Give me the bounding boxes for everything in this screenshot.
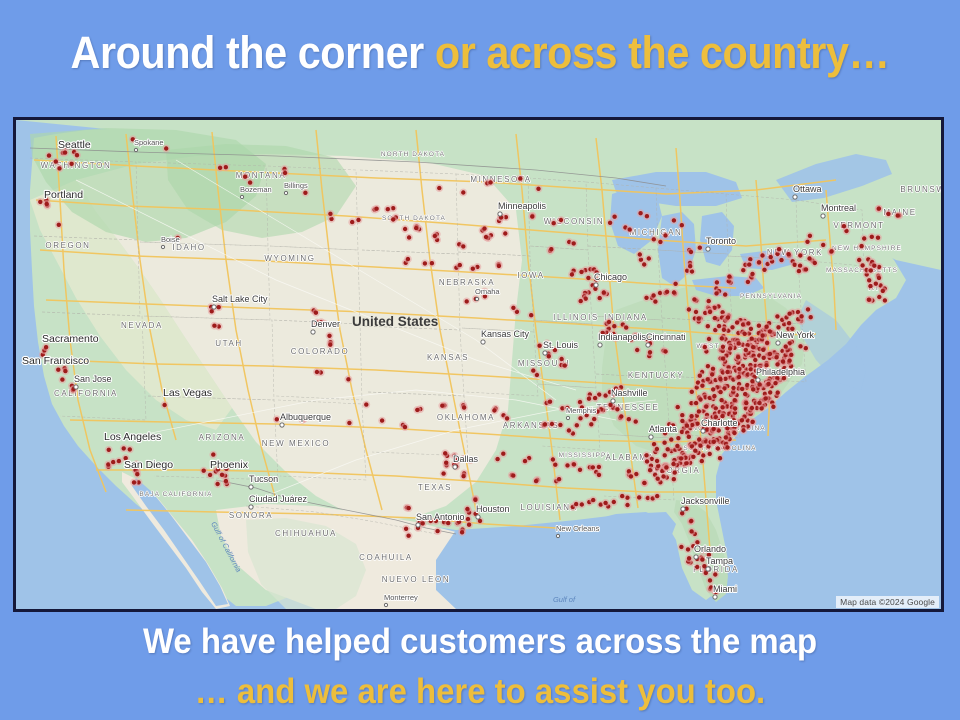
customer-marker[interactable] bbox=[721, 356, 725, 360]
customer-marker[interactable] bbox=[460, 530, 464, 534]
customer-marker[interactable] bbox=[735, 320, 739, 324]
customer-marker[interactable] bbox=[314, 311, 318, 315]
customer-marker[interactable] bbox=[655, 447, 659, 451]
customer-marker[interactable] bbox=[743, 392, 747, 396]
customer-marker[interactable] bbox=[612, 324, 616, 328]
customer-marker[interactable] bbox=[743, 332, 747, 336]
customer-marker[interactable] bbox=[391, 217, 395, 221]
customer-marker[interactable] bbox=[876, 236, 880, 240]
customer-marker[interactable] bbox=[740, 387, 744, 391]
customer-marker[interactable] bbox=[877, 276, 881, 280]
customer-marker[interactable] bbox=[870, 235, 874, 239]
customer-marker[interactable] bbox=[534, 479, 538, 483]
customer-marker[interactable] bbox=[727, 274, 731, 278]
customer-marker[interactable] bbox=[708, 452, 712, 456]
customer-marker[interactable] bbox=[859, 244, 863, 248]
customer-marker[interactable] bbox=[122, 446, 126, 450]
customer-marker[interactable] bbox=[757, 401, 761, 405]
customer-marker[interactable] bbox=[132, 480, 136, 484]
customer-marker[interactable] bbox=[672, 477, 676, 481]
customer-marker[interactable] bbox=[706, 324, 710, 328]
customer-marker[interactable] bbox=[707, 299, 711, 303]
customer-marker[interactable] bbox=[663, 453, 667, 457]
customer-marker[interactable] bbox=[813, 261, 817, 265]
customer-marker[interactable] bbox=[530, 214, 534, 218]
customer-marker[interactable] bbox=[619, 414, 623, 418]
customer-marker[interactable] bbox=[750, 379, 754, 383]
customer-marker[interactable] bbox=[444, 461, 448, 465]
customer-marker[interactable] bbox=[718, 377, 722, 381]
customer-marker[interactable] bbox=[829, 249, 833, 253]
customer-marker[interactable] bbox=[471, 267, 475, 271]
customer-marker[interactable] bbox=[567, 428, 571, 432]
customer-marker[interactable] bbox=[328, 212, 332, 216]
customer-marker[interactable] bbox=[433, 234, 437, 238]
customer-marker[interactable] bbox=[663, 233, 667, 237]
customer-marker[interactable] bbox=[563, 363, 567, 367]
customer-marker[interactable] bbox=[799, 314, 803, 318]
customer-marker[interactable] bbox=[658, 240, 662, 244]
customer-marker[interactable] bbox=[750, 272, 754, 276]
customer-marker[interactable] bbox=[386, 207, 390, 211]
customer-marker[interactable] bbox=[572, 241, 576, 245]
customer-marker[interactable] bbox=[597, 465, 601, 469]
customer-marker[interactable] bbox=[327, 334, 331, 338]
customer-marker[interactable] bbox=[672, 290, 676, 294]
customer-marker[interactable] bbox=[620, 494, 624, 498]
customer-marker[interactable] bbox=[862, 236, 866, 240]
customer-marker[interactable] bbox=[684, 461, 688, 465]
customer-marker[interactable] bbox=[706, 377, 710, 381]
customer-marker[interactable] bbox=[771, 405, 775, 409]
customer-marker[interactable] bbox=[762, 268, 766, 272]
customer-marker[interactable] bbox=[740, 418, 744, 422]
customer-marker[interactable] bbox=[751, 345, 755, 349]
customer-marker[interactable] bbox=[57, 166, 61, 170]
customer-marker[interactable] bbox=[570, 272, 574, 276]
customer-marker[interactable] bbox=[868, 284, 872, 288]
customer-marker[interactable] bbox=[693, 449, 697, 453]
customer-marker[interactable] bbox=[461, 244, 465, 248]
customer-marker[interactable] bbox=[661, 474, 665, 478]
customer-marker[interactable] bbox=[443, 451, 447, 455]
customer-marker[interactable] bbox=[663, 349, 667, 353]
customer-marker[interactable] bbox=[760, 333, 764, 337]
customer-marker[interactable] bbox=[749, 327, 753, 331]
customer-marker[interactable] bbox=[857, 258, 861, 262]
customer-marker[interactable] bbox=[746, 280, 750, 284]
customer-marker[interactable] bbox=[700, 557, 704, 561]
customer-marker[interactable] bbox=[38, 200, 42, 204]
customer-marker[interactable] bbox=[694, 401, 698, 405]
customer-marker[interactable] bbox=[406, 257, 410, 261]
customer-marker[interactable] bbox=[697, 409, 701, 413]
customer-marker[interactable] bbox=[634, 419, 638, 423]
customer-marker[interactable] bbox=[529, 313, 533, 317]
customer-marker[interactable] bbox=[275, 417, 279, 421]
customer-marker[interactable] bbox=[793, 263, 797, 267]
customer-marker[interactable] bbox=[704, 404, 708, 408]
customer-marker[interactable] bbox=[572, 462, 576, 466]
customer-marker[interactable] bbox=[731, 386, 735, 390]
customer-location-map[interactable]: United States WASHINGTONOREGONIDAHOMONTA… bbox=[13, 117, 944, 612]
customer-marker[interactable] bbox=[315, 370, 319, 374]
customer-marker[interactable] bbox=[715, 280, 719, 284]
customer-marker[interactable] bbox=[787, 358, 791, 362]
customer-marker[interactable] bbox=[407, 235, 411, 239]
customer-marker[interactable] bbox=[543, 422, 547, 426]
customer-marker[interactable] bbox=[807, 256, 811, 260]
customer-marker[interactable] bbox=[769, 255, 773, 259]
customer-marker[interactable] bbox=[473, 498, 477, 502]
customer-marker[interactable] bbox=[720, 336, 724, 340]
customer-marker[interactable] bbox=[558, 423, 562, 427]
customer-marker[interactable] bbox=[642, 481, 646, 485]
customer-marker[interactable] bbox=[597, 473, 601, 477]
customer-marker[interactable] bbox=[759, 406, 763, 410]
customer-marker[interactable] bbox=[635, 348, 639, 352]
customer-marker[interactable] bbox=[725, 370, 729, 374]
customer-marker[interactable] bbox=[821, 243, 825, 247]
customer-marker[interactable] bbox=[202, 469, 206, 473]
customer-marker[interactable] bbox=[686, 547, 690, 551]
customer-marker[interactable] bbox=[751, 387, 755, 391]
customer-marker[interactable] bbox=[687, 556, 691, 560]
customer-marker[interactable] bbox=[587, 397, 591, 401]
customer-marker[interactable] bbox=[518, 176, 522, 180]
customer-marker[interactable] bbox=[107, 448, 111, 452]
customer-marker[interactable] bbox=[726, 315, 730, 319]
customer-marker[interactable] bbox=[645, 214, 649, 218]
customer-marker[interactable] bbox=[531, 368, 535, 372]
customer-marker[interactable] bbox=[346, 377, 350, 381]
customer-marker[interactable] bbox=[607, 320, 611, 324]
customer-marker[interactable] bbox=[701, 453, 705, 457]
customer-marker[interactable] bbox=[669, 437, 673, 441]
customer-marker[interactable] bbox=[697, 316, 701, 320]
customer-marker[interactable] bbox=[733, 406, 737, 410]
customer-marker[interactable] bbox=[842, 224, 846, 228]
customer-marker[interactable] bbox=[750, 406, 754, 410]
customer-marker[interactable] bbox=[598, 296, 602, 300]
customer-marker[interactable] bbox=[673, 282, 677, 286]
customer-marker[interactable] bbox=[624, 325, 628, 329]
customer-marker[interactable] bbox=[700, 459, 704, 463]
customer-marker[interactable] bbox=[787, 312, 791, 316]
customer-marker[interactable] bbox=[612, 500, 616, 504]
customer-marker[interactable] bbox=[579, 299, 583, 303]
customer-marker[interactable] bbox=[698, 444, 702, 448]
customer-marker[interactable] bbox=[224, 479, 228, 483]
customer-marker[interactable] bbox=[808, 234, 812, 238]
customer-marker[interactable] bbox=[44, 345, 48, 349]
customer-marker[interactable] bbox=[718, 456, 722, 460]
customer-marker[interactable] bbox=[725, 445, 729, 449]
customer-marker[interactable] bbox=[591, 498, 595, 502]
customer-marker[interactable] bbox=[651, 293, 655, 297]
customer-marker[interactable] bbox=[549, 247, 553, 251]
customer-marker[interactable] bbox=[689, 529, 693, 533]
customer-marker[interactable] bbox=[557, 477, 561, 481]
customer-marker[interactable] bbox=[75, 153, 79, 157]
customer-marker[interactable] bbox=[784, 344, 788, 348]
customer-marker[interactable] bbox=[217, 305, 221, 309]
customer-marker[interactable] bbox=[689, 519, 693, 523]
customer-marker[interactable] bbox=[703, 345, 707, 349]
customer-marker[interactable] bbox=[536, 187, 540, 191]
customer-marker[interactable] bbox=[374, 207, 378, 211]
customer-marker[interactable] bbox=[593, 396, 597, 400]
customer-marker[interactable] bbox=[757, 260, 761, 264]
customer-marker[interactable] bbox=[707, 337, 711, 341]
customer-marker[interactable] bbox=[645, 459, 649, 463]
customer-marker[interactable] bbox=[559, 357, 563, 361]
customer-marker[interactable] bbox=[732, 431, 736, 435]
customer-marker[interactable] bbox=[757, 324, 761, 328]
customer-marker[interactable] bbox=[675, 444, 679, 448]
customer-marker[interactable] bbox=[347, 421, 351, 425]
customer-marker[interactable] bbox=[497, 264, 501, 268]
customer-marker[interactable] bbox=[488, 180, 492, 184]
customer-marker[interactable] bbox=[721, 345, 725, 349]
customer-marker[interactable] bbox=[716, 446, 720, 450]
customer-marker[interactable] bbox=[484, 235, 488, 239]
customer-marker[interactable] bbox=[224, 165, 228, 169]
customer-marker[interactable] bbox=[465, 507, 469, 511]
customer-marker[interactable] bbox=[773, 381, 777, 385]
customer-marker[interactable] bbox=[602, 290, 606, 294]
customer-marker[interactable] bbox=[860, 263, 864, 267]
customer-marker[interactable] bbox=[786, 252, 790, 256]
customer-marker[interactable] bbox=[700, 384, 704, 388]
customer-marker[interactable] bbox=[580, 502, 584, 506]
customer-marker[interactable] bbox=[656, 477, 660, 481]
customer-marker[interactable] bbox=[691, 455, 695, 459]
customer-marker[interactable] bbox=[482, 226, 486, 230]
customer-marker[interactable] bbox=[776, 390, 780, 394]
customer-marker[interactable] bbox=[746, 321, 750, 325]
customer-marker[interactable] bbox=[877, 206, 881, 210]
customer-marker[interactable] bbox=[764, 325, 768, 329]
customer-marker[interactable] bbox=[503, 231, 507, 235]
customer-marker[interactable] bbox=[461, 190, 465, 194]
customer-marker[interactable] bbox=[552, 221, 556, 225]
customer-marker[interactable] bbox=[768, 352, 772, 356]
customer-marker[interactable] bbox=[761, 348, 765, 352]
customer-marker[interactable] bbox=[775, 314, 779, 318]
customer-marker[interactable] bbox=[690, 390, 694, 394]
customer-marker[interactable] bbox=[672, 218, 676, 222]
customer-marker[interactable] bbox=[495, 457, 499, 461]
customer-marker[interactable] bbox=[673, 470, 677, 474]
customer-marker[interactable] bbox=[647, 256, 651, 260]
customer-marker[interactable] bbox=[711, 367, 715, 371]
customer-marker[interactable] bbox=[458, 263, 462, 267]
customer-marker[interactable] bbox=[628, 227, 632, 231]
customer-marker[interactable] bbox=[648, 350, 652, 354]
customer-marker[interactable] bbox=[798, 344, 802, 348]
customer-marker[interactable] bbox=[350, 220, 354, 224]
customer-marker[interactable] bbox=[877, 295, 881, 299]
customer-marker[interactable] bbox=[218, 166, 222, 170]
customer-marker[interactable] bbox=[680, 223, 684, 227]
customer-marker[interactable] bbox=[559, 218, 563, 222]
customer-marker[interactable] bbox=[728, 346, 732, 350]
customer-marker[interactable] bbox=[655, 459, 659, 463]
customer-marker[interactable] bbox=[712, 394, 716, 398]
customer-marker[interactable] bbox=[212, 324, 216, 328]
customer-marker[interactable] bbox=[775, 362, 779, 366]
customer-marker[interactable] bbox=[695, 565, 699, 569]
customer-marker[interactable] bbox=[523, 459, 527, 463]
customer-marker[interactable] bbox=[698, 246, 702, 250]
customer-marker[interactable] bbox=[586, 276, 590, 280]
customer-marker[interactable] bbox=[655, 494, 659, 498]
customer-marker[interactable] bbox=[210, 309, 214, 313]
customer-marker[interactable] bbox=[467, 523, 471, 527]
customer-marker[interactable] bbox=[644, 453, 648, 457]
customer-marker[interactable] bbox=[757, 382, 761, 386]
customer-marker[interactable] bbox=[712, 440, 716, 444]
customer-marker[interactable] bbox=[492, 408, 496, 412]
customer-marker[interactable] bbox=[551, 457, 555, 461]
customer-marker[interactable] bbox=[781, 359, 785, 363]
customer-marker[interactable] bbox=[380, 418, 384, 422]
customer-marker[interactable] bbox=[722, 328, 726, 332]
customer-marker[interactable] bbox=[423, 261, 427, 265]
customer-marker[interactable] bbox=[747, 262, 751, 266]
customer-marker[interactable] bbox=[662, 441, 666, 445]
customer-marker[interactable] bbox=[648, 468, 652, 472]
customer-marker[interactable] bbox=[440, 404, 444, 408]
customer-marker[interactable] bbox=[54, 159, 58, 163]
customer-marker[interactable] bbox=[676, 436, 680, 440]
customer-marker[interactable] bbox=[537, 344, 541, 348]
customer-marker[interactable] bbox=[685, 424, 689, 428]
customer-marker[interactable] bbox=[804, 267, 808, 271]
customer-marker[interactable] bbox=[744, 348, 748, 352]
map-canvas[interactable]: United States WASHINGTONOREGONIDAHOMONTA… bbox=[16, 120, 941, 609]
customer-marker[interactable] bbox=[642, 262, 646, 266]
customer-marker[interactable] bbox=[679, 456, 683, 460]
customer-marker[interactable] bbox=[720, 405, 724, 409]
customer-marker[interactable] bbox=[694, 310, 698, 314]
customer-marker[interactable] bbox=[737, 375, 741, 379]
customer-marker[interactable] bbox=[687, 307, 691, 311]
customer-marker[interactable] bbox=[779, 258, 783, 262]
customer-marker[interactable] bbox=[737, 367, 741, 371]
customer-marker[interactable] bbox=[548, 400, 552, 404]
customer-marker[interactable] bbox=[687, 435, 691, 439]
customer-marker[interactable] bbox=[462, 405, 466, 409]
customer-marker[interactable] bbox=[565, 463, 569, 467]
customer-marker[interactable] bbox=[303, 191, 307, 195]
customer-marker[interactable] bbox=[69, 162, 73, 166]
customer-marker[interactable] bbox=[128, 447, 132, 451]
customer-marker[interactable] bbox=[737, 341, 741, 345]
customer-marker[interactable] bbox=[615, 407, 619, 411]
customer-marker[interactable] bbox=[578, 416, 582, 420]
customer-marker[interactable] bbox=[625, 503, 629, 507]
customer-marker[interactable] bbox=[777, 247, 781, 251]
customer-marker[interactable] bbox=[806, 307, 810, 311]
customer-marker[interactable] bbox=[874, 282, 878, 286]
customer-marker[interactable] bbox=[608, 221, 612, 225]
customer-marker[interactable] bbox=[751, 420, 755, 424]
customer-marker[interactable] bbox=[688, 264, 692, 268]
customer-marker[interactable] bbox=[637, 495, 641, 499]
customer-marker[interactable] bbox=[415, 408, 419, 412]
customer-marker[interactable] bbox=[658, 291, 662, 295]
customer-marker[interactable] bbox=[215, 482, 219, 486]
customer-marker[interactable] bbox=[680, 430, 684, 434]
customer-marker[interactable] bbox=[881, 289, 885, 293]
customer-marker[interactable] bbox=[708, 578, 712, 582]
customer-marker[interactable] bbox=[714, 291, 718, 295]
customer-marker[interactable] bbox=[697, 437, 701, 441]
customer-marker[interactable] bbox=[680, 511, 684, 515]
customer-marker[interactable] bbox=[676, 405, 680, 409]
customer-marker[interactable] bbox=[733, 398, 737, 402]
customer-marker[interactable] bbox=[689, 250, 693, 254]
customer-marker[interactable] bbox=[211, 452, 215, 456]
customer-marker[interactable] bbox=[768, 390, 772, 394]
customer-marker[interactable] bbox=[364, 402, 368, 406]
customer-marker[interactable] bbox=[664, 465, 668, 469]
customer-marker[interactable] bbox=[220, 473, 224, 477]
customer-marker[interactable] bbox=[403, 227, 407, 231]
customer-marker[interactable] bbox=[805, 240, 809, 244]
customer-marker[interactable] bbox=[886, 212, 890, 216]
customer-marker[interactable] bbox=[638, 252, 642, 256]
customer-marker[interactable] bbox=[741, 428, 745, 432]
customer-marker[interactable] bbox=[717, 324, 721, 328]
customer-marker[interactable] bbox=[283, 171, 287, 175]
customer-marker[interactable] bbox=[135, 472, 139, 476]
customer-marker[interactable] bbox=[787, 321, 791, 325]
customer-marker[interactable] bbox=[511, 306, 515, 310]
customer-marker[interactable] bbox=[511, 473, 515, 477]
customer-marker[interactable] bbox=[505, 416, 509, 420]
customer-marker[interactable] bbox=[644, 296, 648, 300]
customer-marker[interactable] bbox=[629, 474, 633, 478]
customer-marker[interactable] bbox=[692, 297, 696, 301]
customer-marker[interactable] bbox=[689, 414, 693, 418]
customer-marker[interactable] bbox=[753, 358, 757, 362]
customer-marker[interactable] bbox=[723, 292, 727, 296]
customer-marker[interactable] bbox=[867, 278, 871, 282]
customer-marker[interactable] bbox=[466, 517, 470, 521]
customer-marker[interactable] bbox=[708, 310, 712, 314]
customer-marker[interactable] bbox=[680, 413, 684, 417]
customer-marker[interactable] bbox=[760, 253, 764, 257]
customer-marker[interactable] bbox=[63, 369, 67, 373]
customer-marker[interactable] bbox=[162, 403, 166, 407]
customer-marker[interactable] bbox=[328, 343, 332, 347]
customer-marker[interactable] bbox=[638, 211, 642, 215]
customer-marker[interactable] bbox=[736, 355, 740, 359]
customer-marker[interactable] bbox=[666, 447, 670, 451]
customer-marker[interactable] bbox=[547, 354, 551, 358]
customer-marker[interactable] bbox=[435, 529, 439, 533]
customer-marker[interactable] bbox=[719, 398, 723, 402]
customer-marker[interactable] bbox=[713, 572, 717, 576]
customer-marker[interactable] bbox=[579, 270, 583, 274]
customer-marker[interactable] bbox=[653, 299, 657, 303]
customer-marker[interactable] bbox=[111, 460, 115, 464]
customer-marker[interactable] bbox=[575, 423, 579, 427]
customer-marker[interactable] bbox=[45, 202, 49, 206]
